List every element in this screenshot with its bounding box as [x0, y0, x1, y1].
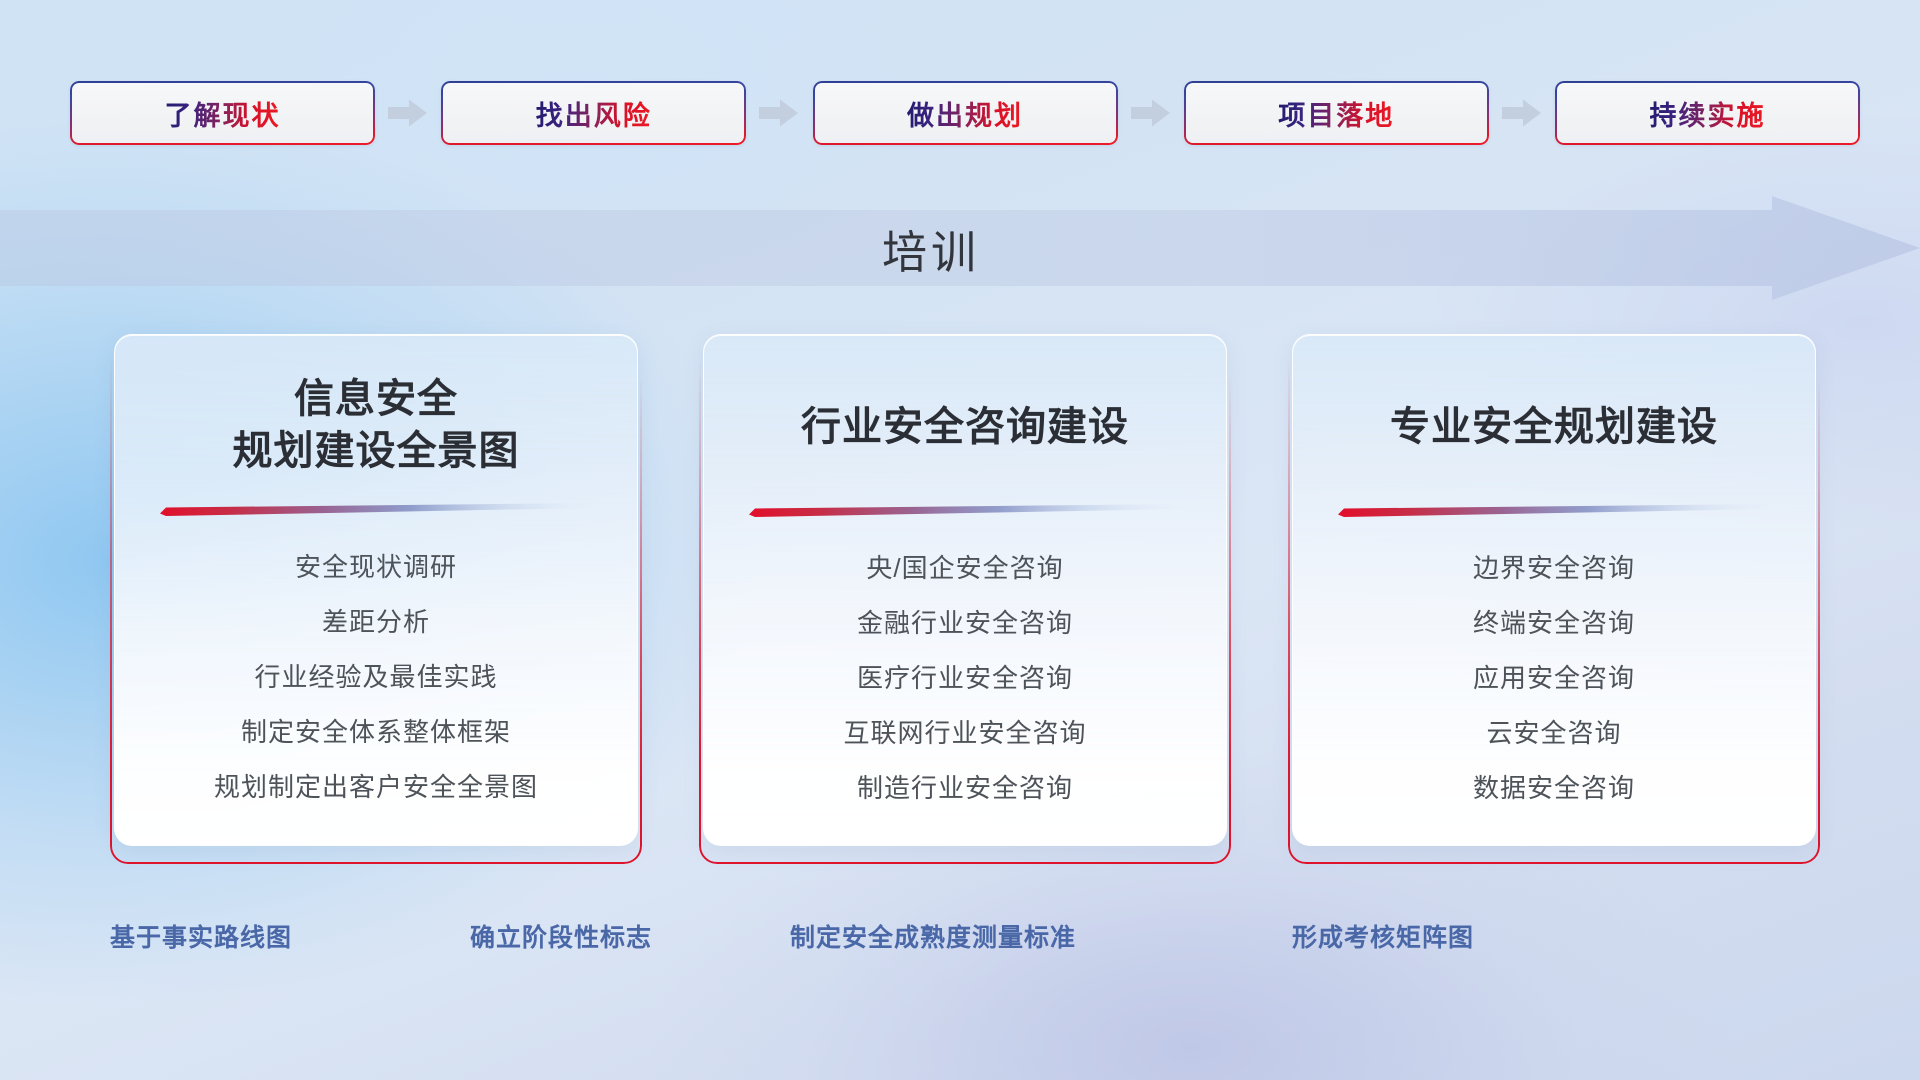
footnote-row: 基于事实路线图 确立阶段性标志 制定安全成熟度测量标准 形成考核矩阵图	[0, 918, 1920, 964]
step-label: 项目落地	[1278, 94, 1394, 133]
card-item-list: 央/国企安全咨询 金融行业安全咨询 医疗行业安全咨询 互联网行业安全咨询 制造行…	[704, 547, 1226, 822]
list-item: 医疗行业安全咨询	[857, 657, 1073, 699]
list-item: 金融行业安全咨询	[857, 602, 1073, 644]
card-title-line: 信息安全	[233, 373, 520, 425]
list-item: 云安全咨询	[1486, 712, 1621, 754]
step-label: 持续实施	[1650, 94, 1766, 133]
process-step-row: 了解现状 找出风险 做出规划 项目落地 持续实施	[70, 80, 1860, 146]
card-title-line: 专业安全规划建设	[1390, 401, 1718, 453]
list-item: 制造行业安全咨询	[857, 767, 1073, 809]
card-2[interactable]: 行业安全咨询建设 央/国企安全咨询 金融行业安全咨询	[699, 334, 1231, 864]
list-item: 边界安全咨询	[1473, 547, 1635, 589]
card-body: 行业安全咨询建设 央/国企安全咨询 金融行业安全咨询	[703, 334, 1227, 846]
card-divider	[1338, 504, 1770, 517]
step-box-1[interactable]: 了解现状	[70, 81, 375, 145]
step-label: 找出风险	[536, 94, 652, 133]
step-box-4[interactable]: 项目落地	[1184, 81, 1489, 145]
list-item: 行业经验及最佳实践	[254, 656, 497, 698]
card-title-line: 规划建设全景图	[233, 425, 520, 477]
card-title: 专业安全规划建设	[1370, 401, 1738, 453]
training-banner: 培训	[0, 196, 1920, 300]
list-item: 央/国企安全咨询	[866, 547, 1063, 589]
step-label: 了解现状	[165, 94, 281, 133]
chevron-right-arrow-icon	[759, 98, 799, 128]
card-divider	[160, 503, 592, 516]
list-item: 互联网行业安全咨询	[843, 712, 1086, 754]
list-item: 应用安全咨询	[1473, 657, 1635, 699]
card-body: 信息安全 规划建设全景图 安全现状调研 差	[114, 334, 638, 846]
card-3[interactable]: 专业安全规划建设 边界安全咨询 终端安全咨询	[1288, 334, 1820, 864]
card-item-list: 安全现状调研 差距分析 行业经验及最佳实践 制定安全体系整体框架 规划制定出客户…	[115, 546, 637, 821]
footnote-3: 制定安全成熟度测量标准	[790, 918, 1076, 954]
list-item: 制定安全体系整体框架	[241, 711, 511, 753]
footnote-4: 形成考核矩阵图	[1292, 918, 1474, 954]
chevron-right-arrow-icon	[1131, 98, 1171, 128]
list-item: 规划制定出客户安全全景图	[214, 766, 538, 808]
card-title: 行业安全咨询建设	[781, 401, 1149, 453]
chevron-right-arrow-icon	[1502, 98, 1542, 128]
card-title-line: 行业安全咨询建设	[801, 401, 1129, 453]
step-label: 做出规划	[907, 94, 1023, 133]
footnote-1: 基于事实路线图	[110, 918, 292, 954]
list-item: 差距分析	[322, 601, 430, 643]
card-title: 信息安全 规划建设全景图	[213, 373, 540, 477]
card-body: 专业安全规划建设 边界安全咨询 终端安全咨询	[1292, 334, 1816, 846]
banner-title: 培训	[0, 196, 1920, 300]
card-1[interactable]: 信息安全 规划建设全景图 安全现状调研 差	[110, 334, 642, 864]
list-item: 数据安全咨询	[1473, 767, 1635, 809]
step-box-5[interactable]: 持续实施	[1555, 81, 1860, 145]
list-item: 终端安全咨询	[1473, 602, 1635, 644]
card-divider	[749, 504, 1181, 517]
step-box-3[interactable]: 做出规划	[813, 81, 1118, 145]
list-item: 安全现状调研	[295, 546, 457, 588]
card-item-list: 边界安全咨询 终端安全咨询 应用安全咨询 云安全咨询 数据安全咨询	[1293, 547, 1815, 822]
step-box-2[interactable]: 找出风险	[441, 81, 746, 145]
card-row: 信息安全 规划建设全景图 安全现状调研 差	[110, 334, 1820, 864]
footnote-2: 确立阶段性标志	[470, 918, 652, 954]
chevron-right-arrow-icon	[388, 98, 428, 128]
